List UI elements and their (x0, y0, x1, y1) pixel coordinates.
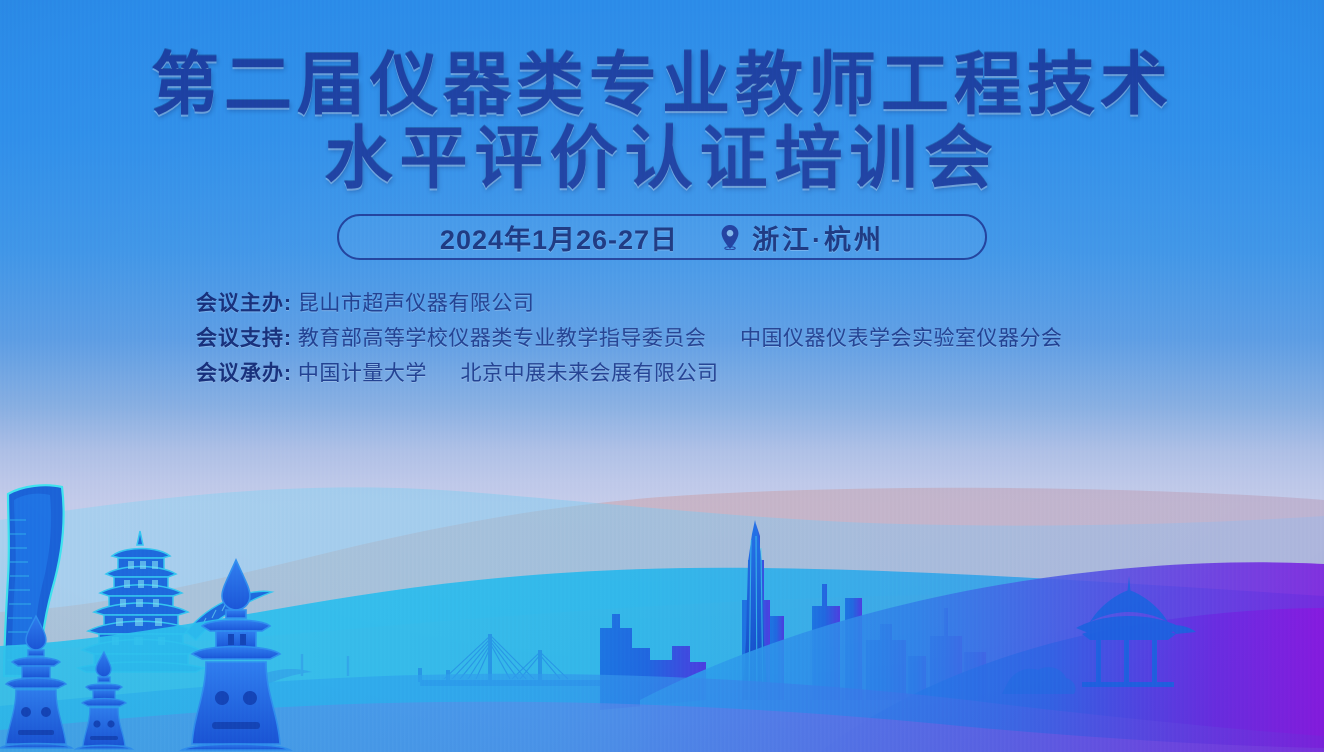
organizer-value: 昆山市超声仪器有限公司 (298, 292, 535, 315)
event-date: 2024年1月26-27日 (440, 218, 678, 257)
organizer-label: 会议主办: (196, 292, 292, 315)
organizer-list: 会议主办: 昆山市超声仪器有限公司 会议支持: 教育部高等学校仪器类专业教学指导… (196, 286, 1324, 391)
organizer-row-host: 会议主办: 昆山市超声仪器有限公司 (196, 286, 1324, 321)
event-location: 浙江·杭州 (752, 218, 884, 257)
organizer-value-2: 北京中展未来会展有限公司 (461, 362, 719, 385)
organizer-value: 中国计量大学 (298, 362, 427, 385)
date-location-pill: 2024年1月26-27日 浙江·杭州 (337, 214, 987, 260)
title-line-1: 第二届仪器类专业教师工程技术 (0, 48, 1324, 122)
conference-banner: 第二届仪器类专业教师工程技术 水平评价认证培训会 2024年1月26-27日 浙… (0, 0, 1324, 752)
organizer-label: 会议承办: (196, 362, 292, 385)
title-line-2: 水平评价认证培训会 (0, 122, 1324, 196)
organizer-row-support: 会议支持: 教育部高等学校仪器类专业教学指导委员会 中国仪器仪表学会实验室仪器分… (196, 321, 1324, 356)
organizer-row-undertaker: 会议承办: 中国计量大学 北京中展未来会展有限公司 (196, 356, 1324, 391)
banner-title: 第二届仪器类专业教师工程技术 水平评价认证培训会 (0, 0, 1324, 196)
organizer-value-2: 中国仪器仪表学会实验室仪器分会 (740, 327, 1063, 350)
location-pin-icon (720, 224, 740, 250)
organizer-label: 会议支持: (196, 327, 292, 350)
organizer-value: 教育部高等学校仪器类专业教学指导委员会 (298, 327, 707, 350)
